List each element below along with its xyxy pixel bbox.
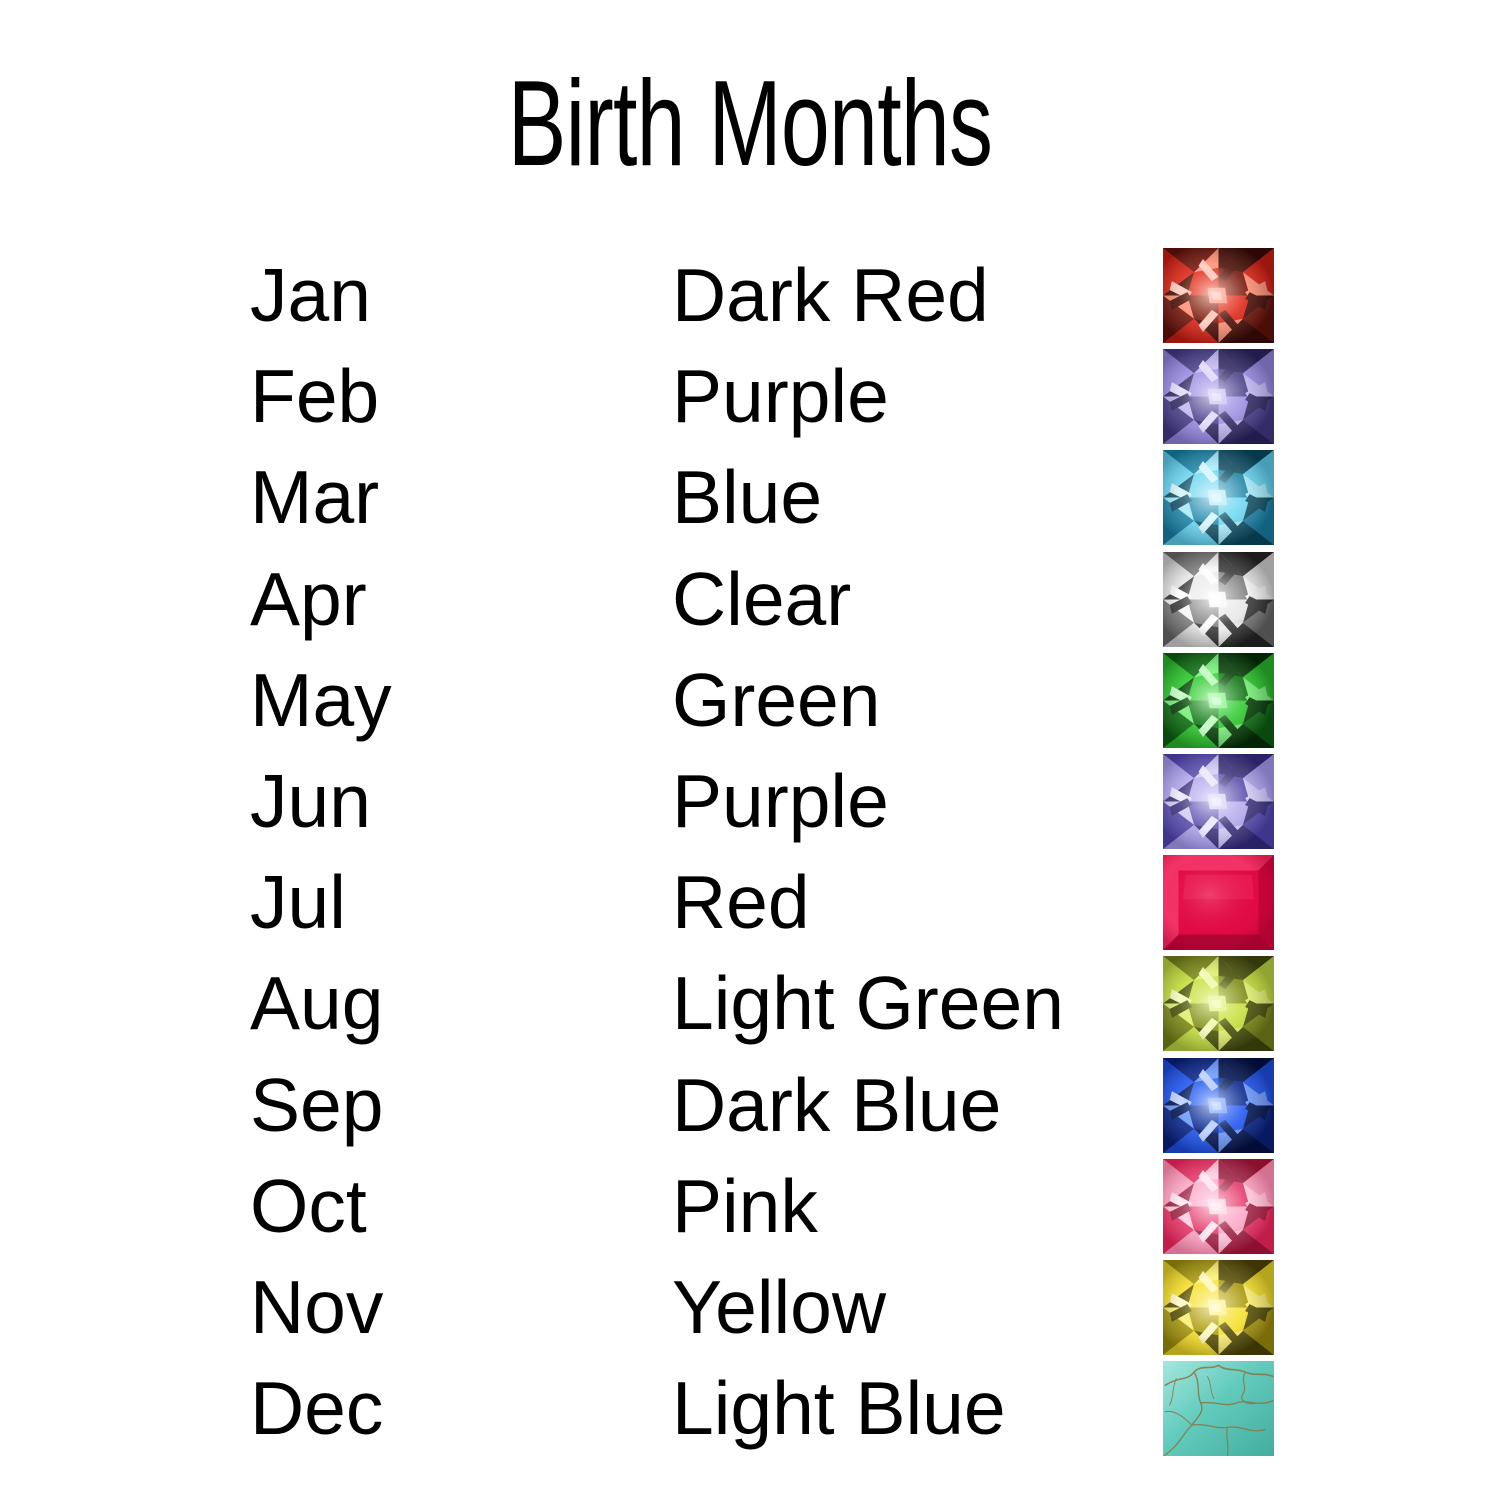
month-label: Jan: [250, 254, 371, 336]
gemstone-icon-turquoise: [1163, 1361, 1274, 1456]
gemstone-icon-clear: [1163, 552, 1274, 647]
birth-month-row: JulRed: [0, 861, 1500, 962]
birth-month-row: OctPink: [0, 1165, 1500, 1266]
gemstone-icon-light-purple: [1163, 754, 1274, 849]
color-name-label: Blue: [672, 456, 822, 538]
color-name-label: Yellow: [672, 1266, 886, 1348]
month-label: Jul: [250, 861, 346, 943]
birth-month-row: JanDark Red: [0, 254, 1500, 355]
month-label: Nov: [250, 1266, 383, 1348]
month-label: Sep: [250, 1064, 383, 1146]
gemstone-icon-blue: [1163, 450, 1274, 545]
gemstone-icon-dark-red: [1163, 248, 1274, 343]
gemstone-icon-pink: [1163, 1159, 1274, 1254]
color-name-label: Dark Red: [672, 254, 989, 336]
color-name-label: Dark Blue: [672, 1064, 1001, 1146]
gemstone-icon-green: [1163, 653, 1274, 748]
color-name-label: Purple: [672, 760, 889, 842]
birth-month-row: MayGreen: [0, 659, 1500, 760]
color-name-label: Clear: [672, 558, 851, 640]
month-label: May: [250, 659, 392, 741]
birth-month-row: NovYellow: [0, 1266, 1500, 1367]
birth-month-row: FebPurple: [0, 355, 1500, 456]
month-label: Dec: [250, 1367, 383, 1449]
birth-month-row: MarBlue: [0, 456, 1500, 557]
color-name-label: Green: [672, 659, 880, 741]
birth-months-page: Birth Months JanDark Red FebPurple MarBl…: [0, 0, 1500, 1500]
birth-month-row: AprClear: [0, 558, 1500, 659]
color-name-label: Light Green: [672, 962, 1064, 1044]
month-label: Feb: [250, 355, 379, 437]
color-name-label: Pink: [672, 1165, 818, 1247]
birth-month-row: AugLight Green: [0, 962, 1500, 1063]
color-name-label: Purple: [672, 355, 889, 437]
color-name-label: Red: [672, 861, 810, 943]
birth-month-row: SepDark Blue: [0, 1064, 1500, 1165]
birth-month-row: DecLight Blue: [0, 1367, 1500, 1468]
month-label: Mar: [250, 456, 379, 538]
birth-months-list: JanDark Red FebPurple MarBlue: [0, 254, 1500, 1468]
gemstone-icon-red: [1163, 855, 1274, 950]
birth-month-row: JunPurple: [0, 760, 1500, 861]
month-label: Oct: [250, 1165, 367, 1247]
gemstone-icon-dark-blue: [1163, 1058, 1274, 1153]
color-name-label: Light Blue: [672, 1367, 1006, 1449]
month-label: Apr: [250, 558, 367, 640]
gemstone-icon-yellow: [1163, 1260, 1274, 1355]
month-label: Jun: [250, 760, 371, 842]
gemstone-icon-purple: [1163, 349, 1274, 444]
month-label: Aug: [250, 962, 383, 1044]
page-title: Birth Months: [210, 62, 1290, 184]
gemstone-icon-light-green: [1163, 956, 1274, 1051]
